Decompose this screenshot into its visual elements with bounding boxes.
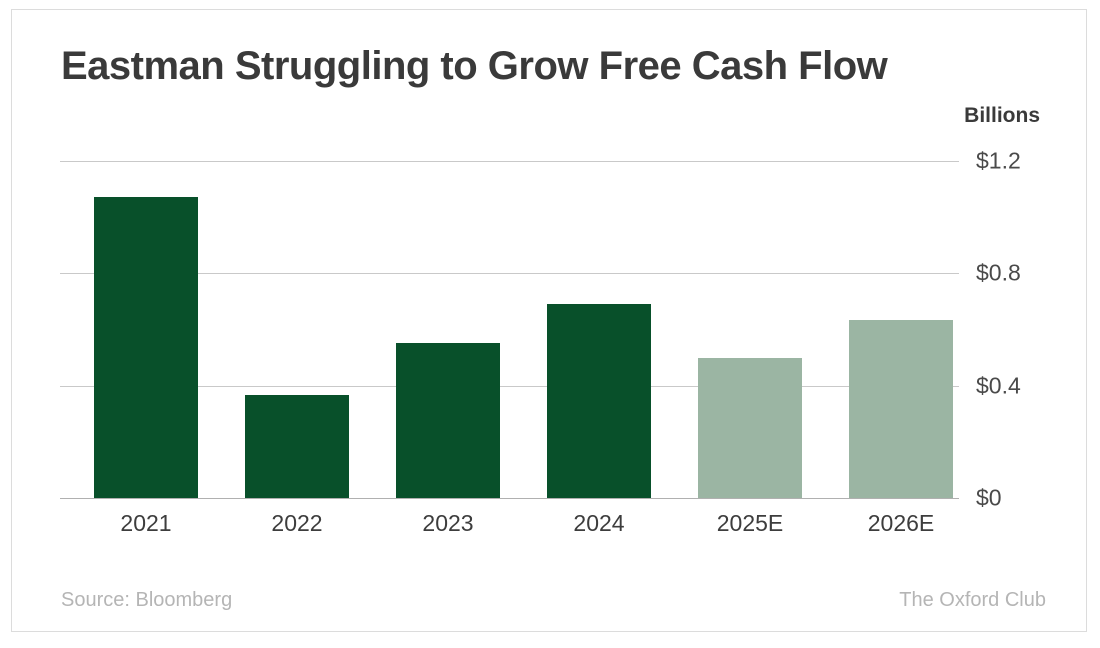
chart-card: Eastman Struggling to Grow Free Cash Flo…	[11, 9, 1087, 632]
x-axis-tick-label: 2022	[245, 510, 349, 537]
y-axis-tick-label: $1.2	[976, 147, 1021, 174]
bar-2023	[396, 343, 500, 498]
bar-2025e	[698, 358, 802, 499]
bar-2022	[245, 395, 349, 498]
y-axis-tick-label: $0.8	[976, 260, 1021, 287]
x-axis-tick-label: 2025E	[698, 510, 802, 537]
source-note: Source: Bloomberg	[61, 589, 232, 612]
y-axis-units-label: Billions	[944, 104, 1040, 128]
bar-2024	[547, 304, 651, 498]
plot-area: $0$0.4$0.8$1.220212022202320242025E2026E	[60, 150, 1008, 502]
chart-title: Eastman Struggling to Grow Free Cash Flo…	[61, 44, 887, 89]
y-axis-tick-label: $0	[976, 485, 1002, 512]
x-axis-line	[60, 498, 959, 499]
x-axis-tick-label: 2023	[396, 510, 500, 537]
gridline	[60, 161, 959, 162]
x-axis-tick-label: 2021	[94, 510, 198, 537]
bar-2021	[94, 197, 198, 498]
brand-note: The Oxford Club	[899, 589, 1046, 612]
x-axis-tick-label: 2024	[547, 510, 651, 537]
y-axis-tick-label: $0.4	[976, 372, 1021, 399]
bar-2026e	[849, 320, 953, 498]
x-axis-tick-label: 2026E	[849, 510, 953, 537]
